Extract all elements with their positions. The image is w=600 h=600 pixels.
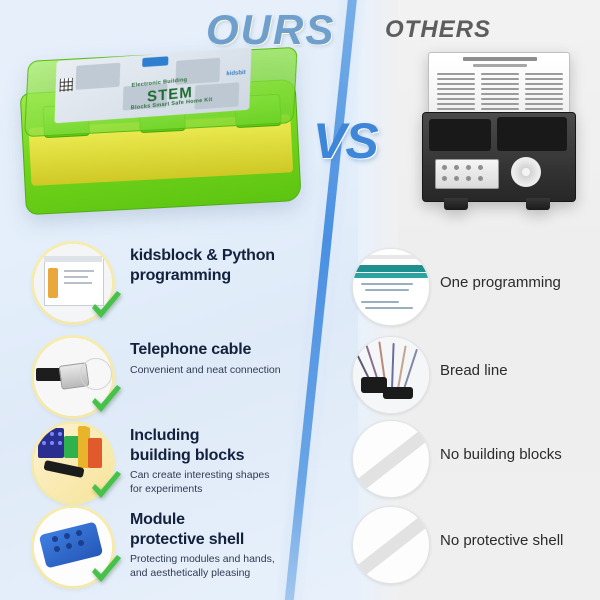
green-check-icon bbox=[86, 382, 126, 422]
others-feature-label: No protective shell bbox=[440, 532, 600, 550]
feature-text-block: kidsblock & Python programming bbox=[130, 246, 345, 288]
toolbox-body bbox=[422, 112, 576, 202]
feature-title: Module protective shell bbox=[130, 510, 345, 549]
ours-product-image: Electronic Building STEM Blocks Smart Sa… bbox=[18, 39, 307, 228]
brand-bar bbox=[142, 56, 168, 67]
feature-title: Telephone cable bbox=[130, 340, 345, 360]
feature-text-block: Telephone cable Convenient and neat conn… bbox=[130, 340, 345, 377]
feature-title: Including building blocks bbox=[130, 426, 345, 465]
code-editor-thumb bbox=[352, 248, 430, 326]
wire-bundle bbox=[429, 119, 491, 151]
feature-title: kidsblock & Python programming bbox=[130, 246, 345, 285]
others-feature-label: Bread line bbox=[440, 362, 600, 380]
qr-code-icon bbox=[60, 78, 73, 92]
feature-subtitle: Can create interesting shapes for experi… bbox=[130, 468, 345, 496]
feature-text-block: Including building blocks Can create int… bbox=[130, 426, 345, 496]
label-photo bbox=[76, 63, 121, 90]
others-product-image bbox=[418, 52, 578, 217]
manual-subtitle-line bbox=[473, 64, 527, 67]
thumb-image bbox=[353, 337, 429, 413]
toolbox-foot bbox=[526, 198, 550, 210]
green-check-icon bbox=[86, 288, 126, 328]
feature-subtitle: Protecting modules and hands, and aesthe… bbox=[130, 552, 345, 580]
comparison-infographic: OURS OTHERS VS Electronic Building STEM … bbox=[0, 0, 600, 600]
unavailable-thumb bbox=[352, 420, 430, 498]
feature-subtitle: Convenient and neat connection bbox=[130, 363, 345, 377]
toolbox-manual-sheet bbox=[428, 52, 570, 118]
label-photo bbox=[194, 82, 239, 109]
thumb-image bbox=[353, 249, 429, 325]
vs-badge: VS bbox=[313, 112, 378, 170]
label-brand-text: kidsbit bbox=[226, 70, 246, 77]
green-check-icon bbox=[86, 468, 126, 508]
unavailable-thumb bbox=[352, 506, 430, 584]
keypad-component bbox=[435, 159, 499, 189]
others-feature-label: One programming bbox=[440, 274, 600, 292]
wire-bundle bbox=[497, 117, 567, 151]
manual-title-line bbox=[463, 57, 537, 61]
toolbox-foot bbox=[444, 198, 468, 210]
others-feature-label: No building blocks bbox=[440, 446, 600, 464]
fan-component bbox=[511, 157, 541, 187]
green-check-icon bbox=[86, 552, 126, 592]
jumper-wires-thumb bbox=[352, 336, 430, 414]
feature-text-block: Module protective shell Protecting modul… bbox=[130, 510, 345, 580]
page-title-others: OTHERS bbox=[385, 16, 491, 44]
